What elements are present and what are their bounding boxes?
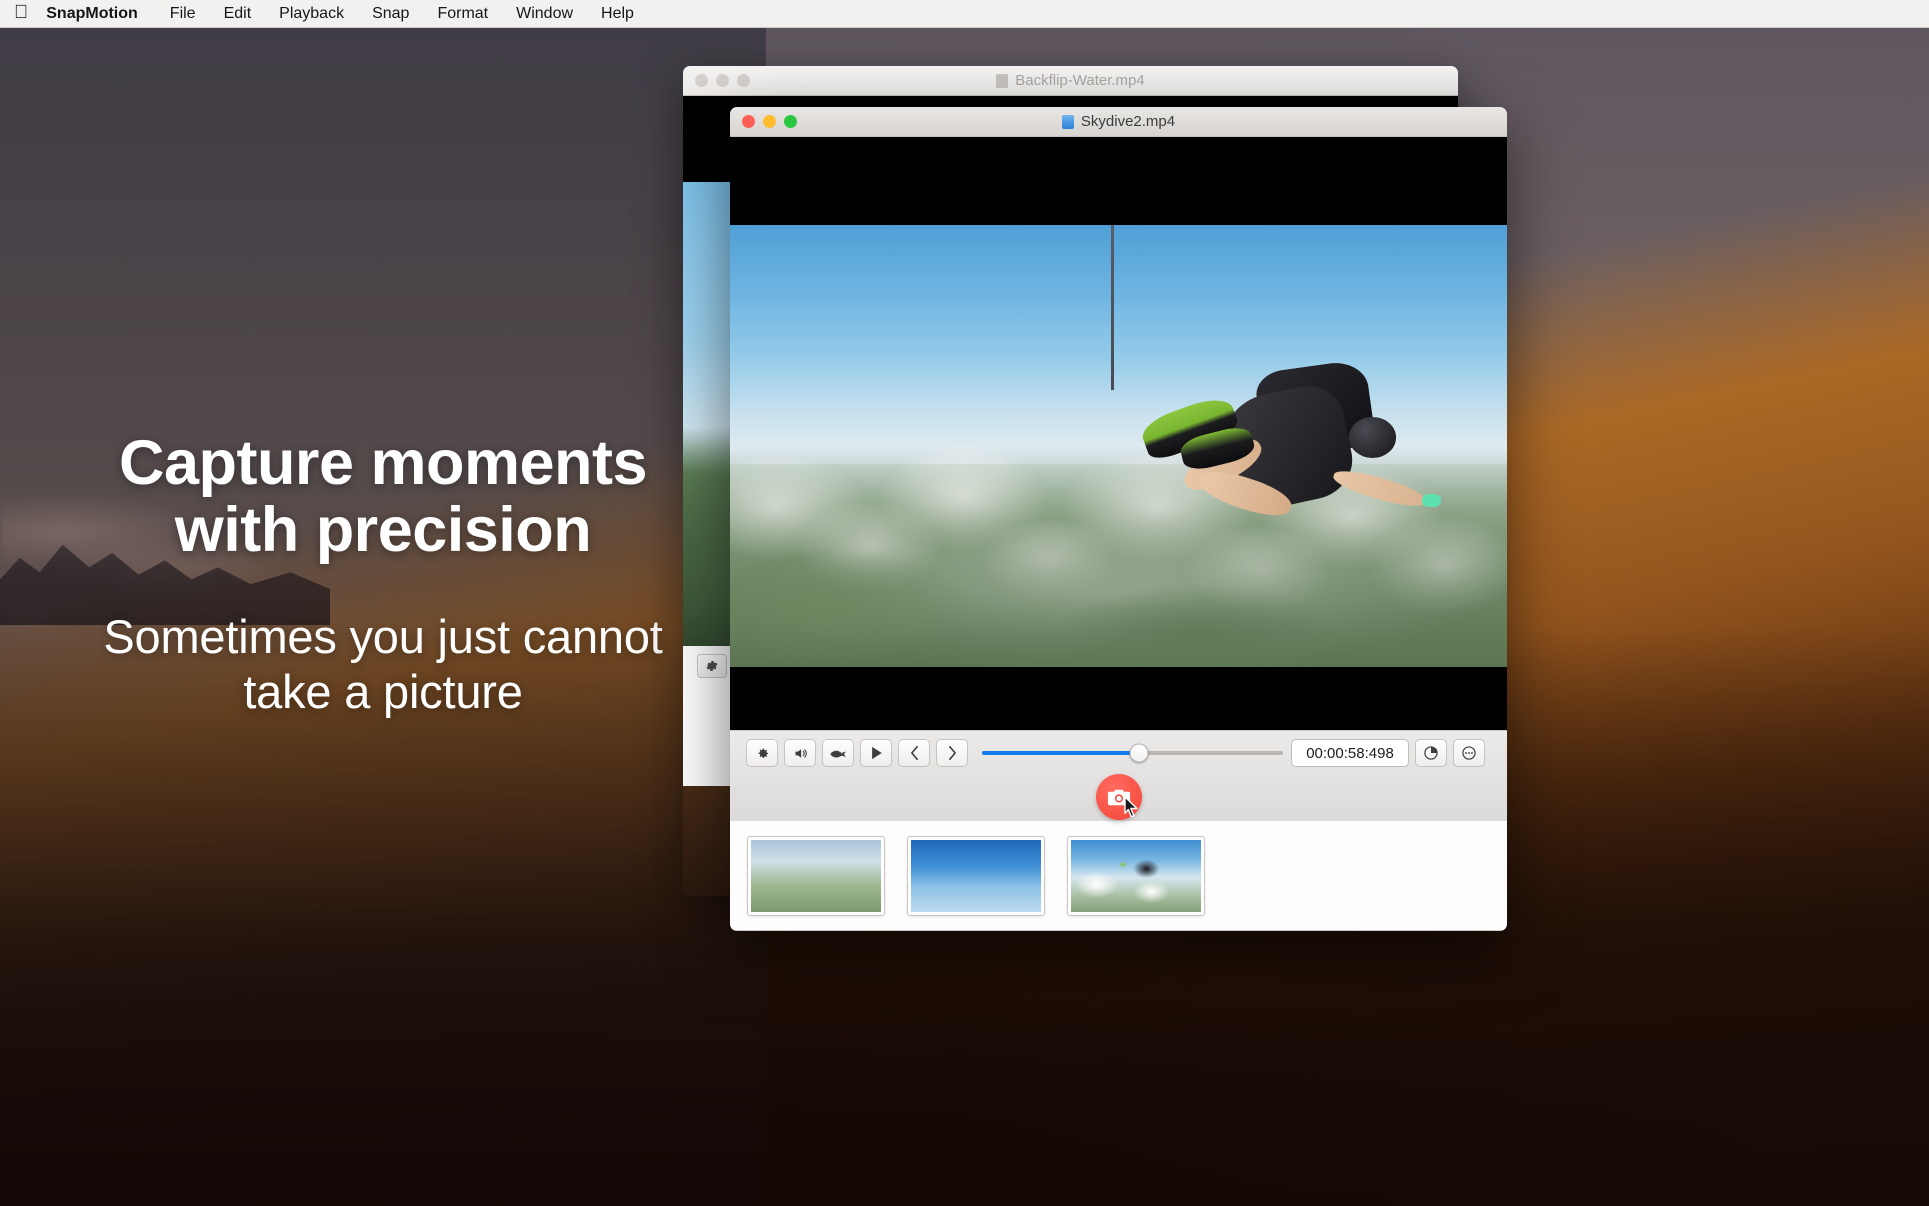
menu-item-help[interactable]: Help: [587, 5, 648, 23]
menu-bar:  SnapMotion File Edit Playback Snap For…: [0, 0, 1929, 28]
play-icon[interactable]: [860, 739, 892, 767]
speaker-icon[interactable]: [784, 739, 816, 767]
menu-item-edit[interactable]: Edit: [210, 5, 266, 23]
diver-wristband: [1422, 494, 1442, 507]
gear-icon[interactable]: [697, 654, 727, 678]
promo-headline-line-2: with precision: [175, 495, 592, 565]
playback-control-bar: 00:00:58:498: [730, 730, 1507, 820]
menu-item-playback[interactable]: Playback: [265, 5, 358, 23]
window-title-backflip: Backflip-Water.mp4: [683, 72, 1458, 89]
titlebar-skydive2[interactable]: Skydive2.mp4: [730, 107, 1507, 137]
promo-subline-2: take a picture: [243, 665, 522, 718]
window-title-skydive2: Skydive2.mp4: [730, 113, 1507, 130]
menu-item-snapmotion[interactable]: SnapMotion: [46, 5, 156, 23]
playback-button-row: 00:00:58:498: [730, 738, 1507, 768]
chevron-right-icon[interactable]: [936, 739, 968, 767]
parachute-cord: [1111, 225, 1114, 390]
titlebar-backflip-water[interactable]: Backflip-Water.mp4: [683, 66, 1458, 96]
apple-menu-icon[interactable]: : [14, 3, 28, 22]
promo-headline: Capture moments with precision: [0, 430, 766, 565]
menu-item-file[interactable]: File: [156, 5, 210, 23]
thumbnail-1[interactable]: [748, 837, 884, 915]
slider-progress-fill: [982, 751, 1139, 755]
menu-item-window[interactable]: Window: [502, 5, 587, 23]
window-skydive2[interactable]: Skydive2.mp4: [730, 107, 1507, 931]
diver-helmet: [1349, 417, 1397, 458]
window-title-text: Skydive2.mp4: [1081, 113, 1175, 130]
skydiver-figure: [1142, 345, 1422, 601]
video-surface-skydive2[interactable]: [730, 137, 1507, 730]
thumbnail-strip[interactable]: [730, 820, 1507, 930]
document-icon: [1062, 115, 1074, 129]
menu-item-snap[interactable]: Snap: [358, 5, 423, 23]
pie-progress-icon[interactable]: [1415, 739, 1447, 767]
menu-item-format[interactable]: Format: [423, 5, 502, 23]
slow-motion-icon[interactable]: [822, 739, 854, 767]
promo-text-block: Capture moments with precision Sometimes…: [0, 430, 766, 720]
document-icon: [996, 74, 1008, 88]
promo-subline-1: Sometimes you just cannot: [103, 610, 662, 663]
camera-icon: [1107, 788, 1131, 807]
ellipsis-icon[interactable]: [1453, 739, 1485, 767]
slider-knob[interactable]: [1129, 744, 1148, 763]
thumbnail-3[interactable]: [1068, 837, 1204, 915]
promo-subheadline: Sometimes you just cannot take a picture: [0, 609, 766, 720]
gear-icon[interactable]: [746, 739, 778, 767]
timeline-slider[interactable]: [982, 739, 1283, 767]
timecode-field[interactable]: 00:00:58:498: [1291, 739, 1409, 767]
window-title-text: Backflip-Water.mp4: [1015, 72, 1145, 89]
capture-button-row: [730, 773, 1507, 821]
thumbnail-2[interactable]: [908, 837, 1044, 915]
video-frame-skydive2: [730, 225, 1507, 667]
diver-arm: [1331, 466, 1428, 512]
promo-headline-line-1: Capture moments: [119, 428, 647, 498]
capture-button[interactable]: [1096, 774, 1142, 820]
status-bar: 3 images: [730, 930, 1507, 931]
chevron-left-icon[interactable]: [898, 739, 930, 767]
